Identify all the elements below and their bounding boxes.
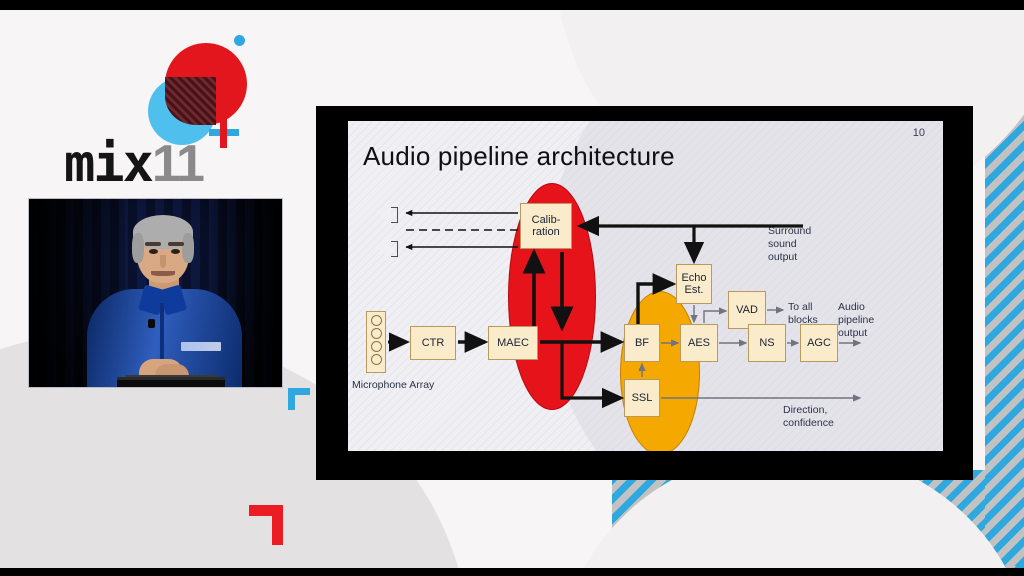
label-direction-confidence: Direction,confidence [783, 404, 834, 430]
label-to-all-blocks: To allblocks [788, 301, 818, 327]
slide-projection-frame: 10 Audio pipeline architecture [316, 106, 973, 480]
block-label-ns: NS [759, 337, 774, 349]
block-label-ssl: SSL [632, 392, 653, 404]
block-label-bf: BF [635, 337, 649, 349]
mix11-logo: mix11 [60, 25, 290, 190]
presenter-video [28, 198, 283, 388]
block-bf: BF [624, 324, 660, 362]
red-corner-bracket [249, 505, 283, 545]
block-label-calibration: Calib-ration [532, 214, 561, 239]
podium [117, 377, 225, 388]
presenter-brow-left [145, 242, 161, 246]
blue-corner-bracket [288, 388, 310, 410]
block-label-maec: MAEC [497, 337, 529, 349]
block-ns: NS [748, 324, 786, 362]
block-label-vad: VAD [736, 304, 758, 316]
video-frame: mix11 10 Audi [0, 0, 1024, 576]
label-microphone-array: Microphone Array [352, 379, 434, 392]
block-agc: AGC [800, 324, 838, 362]
block-label-echo-est: EchoEst. [681, 272, 706, 297]
presenter-eye-right [171, 249, 180, 254]
audio-pipeline-diagram: Calib-ration CTR MAEC BF SSL EchoEst. [348, 121, 943, 451]
presenter-mouth [151, 271, 175, 276]
block-maec: MAEC [488, 326, 538, 360]
presenter-brow-right [168, 242, 184, 246]
block-label-agc: AGC [807, 337, 831, 349]
letterbox-bottom [0, 568, 1024, 576]
logo-text-mix: mix [64, 134, 152, 194]
label-surround-sound-output: Surroundsoundoutput [768, 225, 811, 264]
presenter-hair-left [132, 233, 144, 263]
block-ssl: SSL [624, 379, 660, 417]
slide-surface: 10 Audio pipeline architecture [348, 121, 943, 451]
presenter-nose [160, 255, 166, 268]
logo-text-11: 11 [152, 135, 203, 193]
microsoft-shirt-logo [181, 342, 221, 351]
lapel-microphone-icon [148, 319, 155, 328]
presenter-eye-left [149, 249, 158, 254]
block-ctr: CTR [410, 326, 456, 360]
label-audio-pipeline-output: Audiopipelineoutput [838, 301, 874, 340]
logo-wordmark: mix11 [64, 131, 203, 191]
logo-blue-dot-icon [234, 35, 245, 46]
block-label-aes: AES [688, 337, 710, 349]
presenter-hair-right [182, 233, 194, 263]
block-label-ctr: CTR [422, 337, 445, 349]
block-aes: AES [680, 324, 718, 362]
logo-plus-red-icon [220, 118, 227, 148]
logo-hatched-overlap-icon [165, 77, 216, 125]
block-echo-est: EchoEst. [676, 264, 712, 304]
letterbox-top [0, 0, 1024, 10]
block-calibration: Calib-ration [520, 203, 572, 249]
